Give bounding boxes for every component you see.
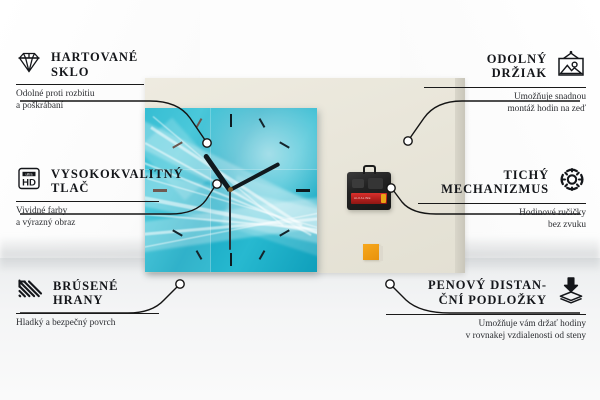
brushed-edges-icon xyxy=(16,278,44,308)
feature-description: Odolné proti rozbitiu a poškrábaní xyxy=(16,89,168,112)
svg-text:ultra: ultra xyxy=(26,172,33,176)
gear-icon xyxy=(558,166,586,198)
svg-text:HD: HD xyxy=(22,178,36,189)
feature-rule xyxy=(16,313,159,314)
feature-title: HARTOVANÉ SKLO xyxy=(51,50,138,79)
foam-distance-pad xyxy=(363,244,379,260)
feature-title: ODOLNÝ DRŽIAK xyxy=(487,52,547,81)
feature-title: TICHÝ MECHANIZMUS xyxy=(441,168,549,197)
diamond-icon xyxy=(16,50,42,79)
mechanism-hanger-icon xyxy=(363,165,376,174)
feature-durable-hanger: ODOLNÝ DRŽIAK Umožňuje snadnou montáž ho… xyxy=(424,50,586,115)
picture-frame-hanger-icon xyxy=(556,50,586,82)
aa-battery: ALKALINE xyxy=(351,193,387,204)
feature-foam-pads: PENOVÝ DISTAN- ČNÍ PODLOŽKY Umožňuje vám… xyxy=(386,276,586,342)
feature-title: VYSOKOKVALITNÝ TLAČ xyxy=(51,167,184,196)
product-infographic: ALKALINE xyxy=(0,0,600,400)
feature-title: BRÚSENÉ HRANY xyxy=(53,279,118,308)
feature-hd-print: ultra HD VYSOKOKVALITNÝ TLAČ Vividné far… xyxy=(16,166,176,229)
feature-silent-mechanism: TICHÝ MECHANIZMUS Hodinové ručičky bez z… xyxy=(418,166,586,231)
clock-movement-mechanism: ALKALINE xyxy=(347,172,391,210)
feature-brushed-edges: BRÚSENÉ HRANY Hladký a bezpečný povrch xyxy=(16,278,176,330)
feature-description: Hodinové ručičky bez zvuku xyxy=(418,208,586,231)
ultra-hd-icon: ultra HD xyxy=(16,166,42,196)
feature-title: PENOVÝ DISTAN- ČNÍ PODLOŽKY xyxy=(428,278,547,307)
feature-rule xyxy=(418,203,586,204)
foam-pad-stack-icon xyxy=(556,276,586,309)
feature-description: Hladký a bezpečný povrch xyxy=(16,318,176,330)
feature-rule xyxy=(16,84,144,85)
feature-description: Umožňuje snadnou montáž hodin na zeď xyxy=(424,92,586,115)
feature-rule xyxy=(16,201,159,202)
foam-distance-pad-side xyxy=(379,246,383,261)
feature-description: Umožňuje vám držať hodiny v rovnakej vzd… xyxy=(386,319,586,342)
feature-description: Vividné farby a výrazný obraz xyxy=(16,206,176,229)
feature-rule xyxy=(424,87,586,88)
feature-rule xyxy=(386,314,586,315)
feature-hardened-glass: HARTOVANÉ SKLO Odolné proti rozbitiu a p… xyxy=(16,50,168,112)
